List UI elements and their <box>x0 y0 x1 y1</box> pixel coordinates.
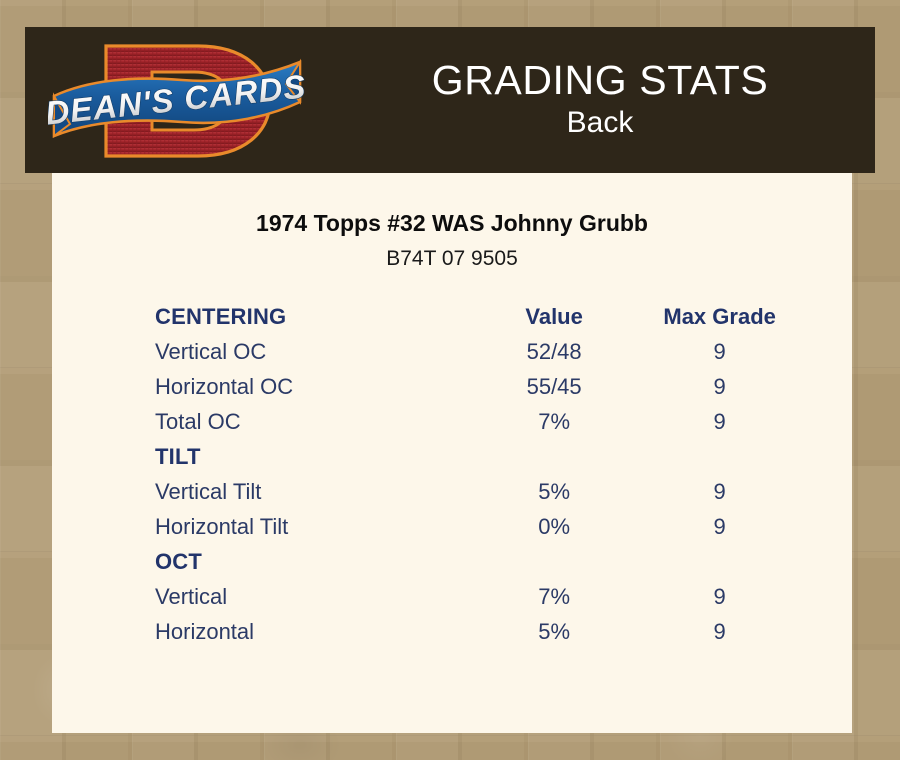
stat-label: Vertical OC <box>155 335 473 370</box>
stat-max-grade: 9 <box>635 475 804 510</box>
stat-max-grade: 9 <box>635 580 804 615</box>
column-header-max-grade: Max Grade <box>635 300 804 335</box>
stat-value: 5% <box>473 475 635 510</box>
stat-value: 52/48 <box>473 335 635 370</box>
stat-label: Horizontal Tilt <box>155 510 473 545</box>
card-subtitle: B74T 07 9505 <box>52 246 852 271</box>
column-header-max-grade-spacer <box>635 545 804 580</box>
section-header-row: CENTERINGValueMax Grade <box>155 300 804 335</box>
deans-cards-logo[interactable]: DEAN'S CARDS <box>48 32 318 170</box>
stat-max-grade: 9 <box>635 370 804 405</box>
header-bar: DEAN'S CARDS GRADING STATS Back <box>25 27 875 173</box>
section-header-oct: OCT <box>155 545 473 580</box>
stat-label: Vertical <box>155 580 473 615</box>
stat-value: 0% <box>473 510 635 545</box>
stat-max-grade: 9 <box>635 405 804 440</box>
stats-panel: 1974 Topps #32 WAS Johnny Grubb B74T 07 … <box>52 173 852 733</box>
stat-max-grade: 9 <box>635 615 804 650</box>
stat-label: Horizontal OC <box>155 370 473 405</box>
table-row: Horizontal OC55/459 <box>155 370 804 405</box>
section-header-centering: CENTERING <box>155 300 473 335</box>
table-row: Horizontal Tilt0%9 <box>155 510 804 545</box>
stat-label: Horizontal <box>155 615 473 650</box>
column-header-value-spacer <box>473 440 635 475</box>
page-subtitle: Back <box>567 104 634 142</box>
grading-stats-page: DEAN'S CARDS GRADING STATS Back 1974 Top… <box>0 0 900 760</box>
section-header-row: OCT <box>155 545 804 580</box>
stat-label: Vertical Tilt <box>155 475 473 510</box>
header-title-group: GRADING STATS Back <box>325 27 875 173</box>
section-header-row: TILT <box>155 440 804 475</box>
column-header-max-grade-spacer <box>635 440 804 475</box>
column-header-value-spacer <box>473 545 635 580</box>
card-title: 1974 Topps #32 WAS Johnny Grubb <box>52 210 852 238</box>
page-title: GRADING STATS <box>432 59 769 102</box>
stat-value: 55/45 <box>473 370 635 405</box>
grading-stats-table: CENTERINGValueMax GradeVertical OC52/489… <box>155 300 804 650</box>
stat-value: 7% <box>473 580 635 615</box>
table-row: Total OC7%9 <box>155 405 804 440</box>
stat-max-grade: 9 <box>635 335 804 370</box>
stat-value: 5% <box>473 615 635 650</box>
table-row: Vertical Tilt5%9 <box>155 475 804 510</box>
deans-cards-logo-icon: DEAN'S CARDS <box>48 32 318 170</box>
stat-value: 7% <box>473 405 635 440</box>
stats-table-body: CENTERINGValueMax GradeVertical OC52/489… <box>155 300 804 650</box>
stat-label: Total OC <box>155 405 473 440</box>
column-header-value: Value <box>473 300 635 335</box>
table-row: Horizontal5%9 <box>155 615 804 650</box>
table-row: Vertical7%9 <box>155 580 804 615</box>
grading-stats-section: CENTERINGValueMax GradeVertical OC52/489… <box>52 300 852 650</box>
stat-max-grade: 9 <box>635 510 804 545</box>
section-header-tilt: TILT <box>155 440 473 475</box>
table-row: Vertical OC52/489 <box>155 335 804 370</box>
